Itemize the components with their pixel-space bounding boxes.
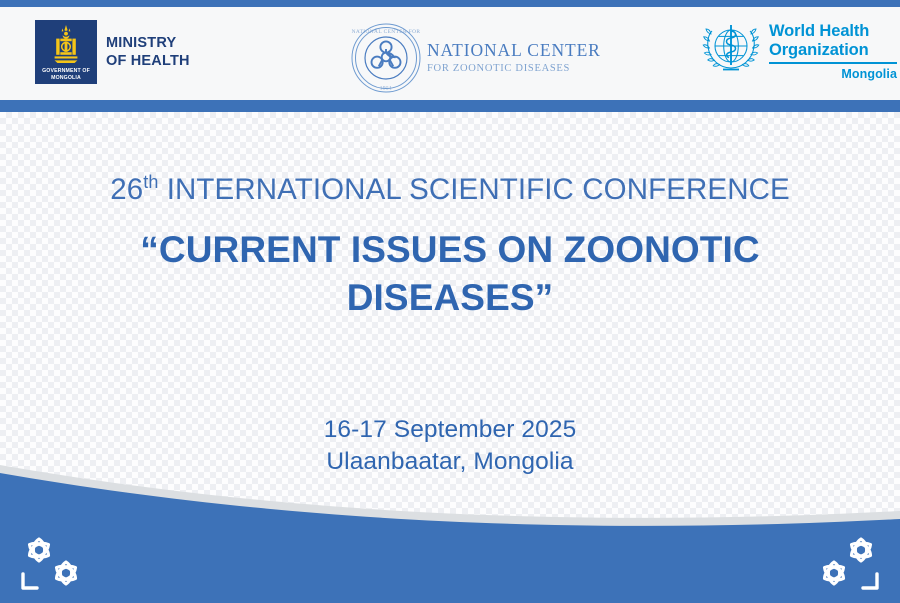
ministry-name-line2: OF HEALTH xyxy=(106,52,190,70)
top-accent-rule xyxy=(0,0,900,7)
national-center-name-line1: NATIONAL CENTER xyxy=(427,42,601,60)
ministry-of-health-logo: GOVERNMENT OF MONGOLIA MINISTRY OF HEALT… xyxy=(35,20,190,84)
footer-wave-decoration xyxy=(0,453,900,603)
conference-theme-line2: DISEASES” xyxy=(0,274,900,322)
mongolia-soyombo-emblem-icon: GOVERNMENT OF MONGOLIA xyxy=(35,20,97,84)
national-center-name-line2: FOR ZOONOTIC DISEASES xyxy=(427,64,601,75)
svg-text:NATIONAL CENTER FOR: NATIONAL CENTER FOR xyxy=(352,29,421,35)
emblem-caption-line2: MONGOLIA xyxy=(35,75,97,81)
conference-ordinal: th xyxy=(143,172,158,192)
mongolian-ulzii-knot-ornament-icon xyxy=(806,529,884,595)
conference-theme-line1: “CURRENT ISSUES ON ZOONOTIC xyxy=(0,226,900,274)
national-center-name: NATIONAL CENTER FOR ZOONOTIC DISEASES xyxy=(427,42,601,74)
header-separator-bar xyxy=(0,100,900,112)
zoonotic-biohazard-seal-icon: NATIONAL CENTER FOR 1951 xyxy=(350,22,422,94)
ministry-name-line1: MINISTRY xyxy=(106,34,190,52)
who-wordmark: World Health Organization Mongolia xyxy=(769,20,897,81)
ministry-of-health-name: MINISTRY OF HEALTH xyxy=(106,34,190,70)
who-mongolia-logo: World Health Organization Mongolia xyxy=(700,20,897,81)
who-asclepius-globe-wreath-icon xyxy=(700,20,762,78)
conference-title-slide: GOVERNMENT OF MONGOLIA MINISTRY OF HEALT… xyxy=(0,0,900,603)
conference-heading: 26th INTERNATIONAL SCIENTIFIC CONFERENCE xyxy=(0,172,900,208)
mongolian-ulzii-knot-ornament-icon xyxy=(16,529,94,595)
emblem-caption: GOVERNMENT OF MONGOLIA xyxy=(35,68,97,81)
emblem-caption-line1: GOVERNMENT OF xyxy=(35,68,97,74)
svg-text:1951: 1951 xyxy=(380,86,392,92)
national-center-zoonotic-diseases-logo: NATIONAL CENTER FOR 1951 NATIONAL CENTER xyxy=(350,22,601,94)
conference-label: INTERNATIONAL SCIENTIFIC CONFERENCE xyxy=(158,173,789,206)
who-divider-rule xyxy=(769,62,897,64)
who-name-line2: Organization xyxy=(769,41,897,60)
who-name-line1: World Health xyxy=(769,22,897,41)
event-date: 16-17 September 2025 xyxy=(0,414,900,446)
title-block: 26th INTERNATIONAL SCIENTIFIC CONFERENCE… xyxy=(0,172,900,322)
who-country-label: Mongolia xyxy=(769,67,897,81)
conference-number: 26 xyxy=(110,173,143,206)
